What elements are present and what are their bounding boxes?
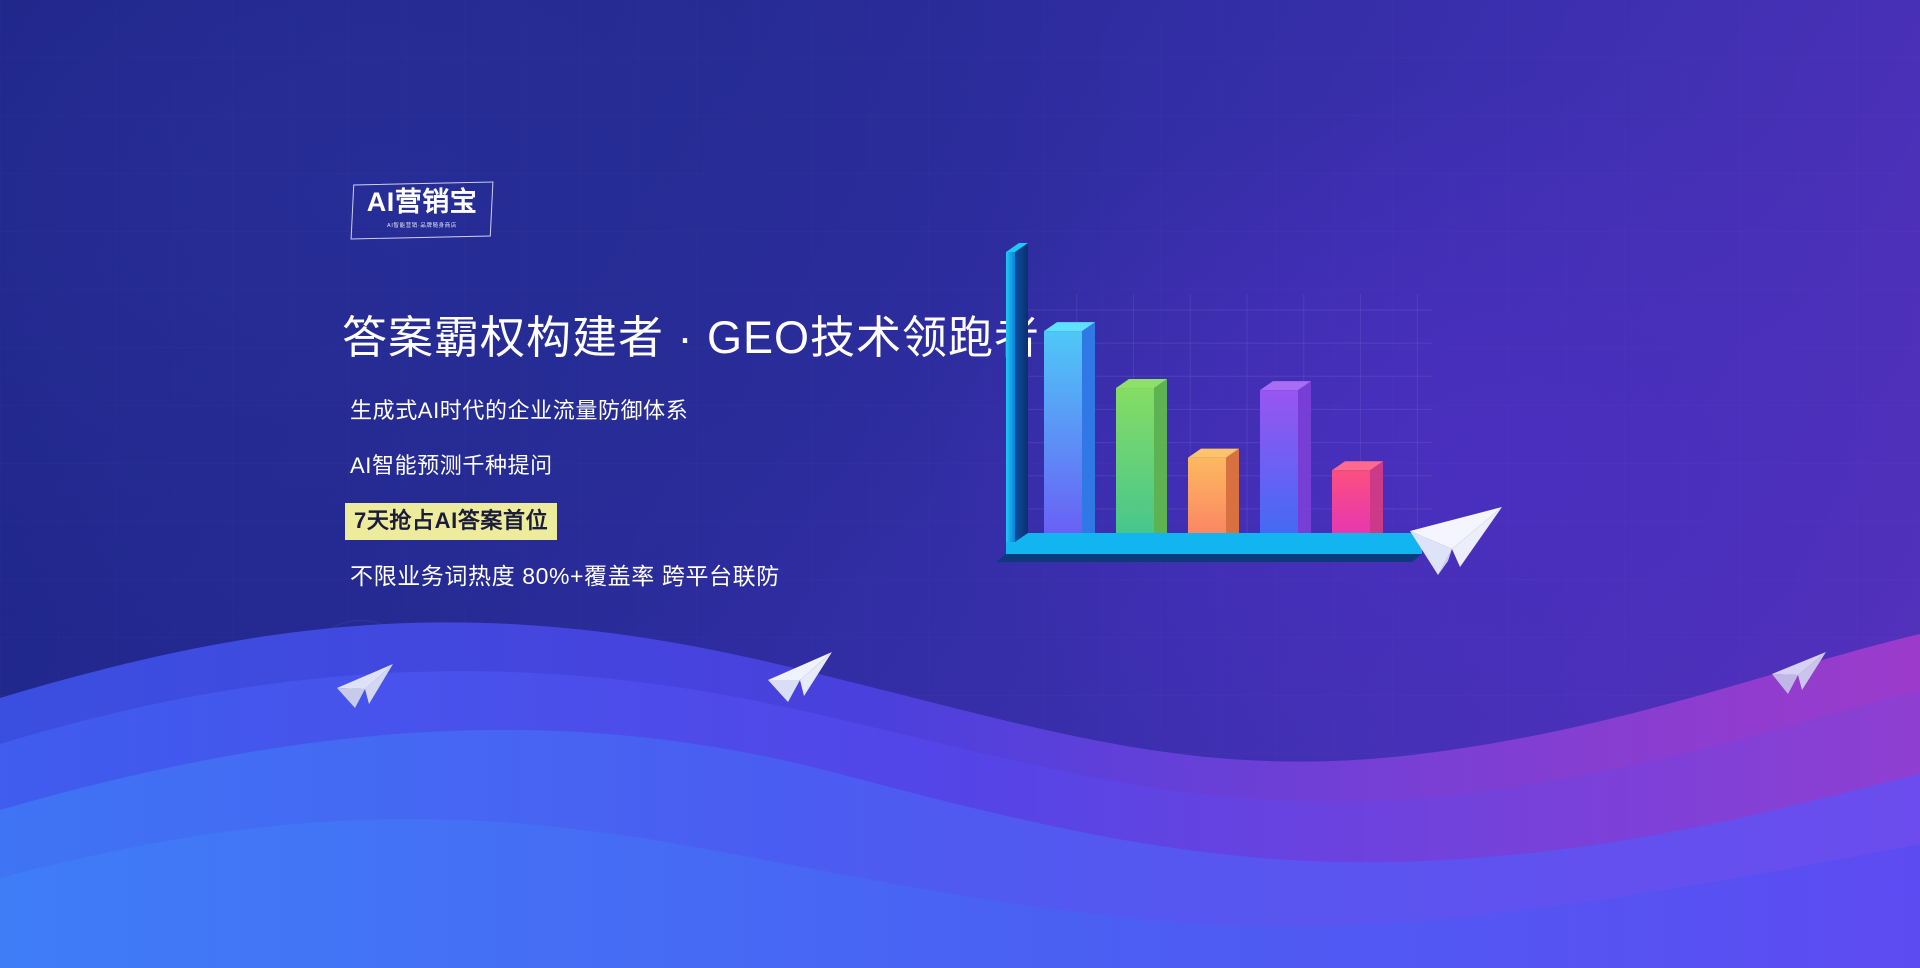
hero-highlight-badge: 7天抢占AI答案首位	[345, 503, 557, 540]
paper-plane-icon	[1408, 505, 1504, 579]
logo-text: AI营销宝	[367, 189, 478, 216]
paper-plane-icon	[335, 662, 397, 712]
paper-plane-icon	[1770, 650, 1830, 698]
page-title: 答案霸权构建者 · GEO技术领跑者	[342, 311, 1040, 365]
hero-subtitle-2: AI智能预测千种提问	[350, 453, 553, 479]
brand-logo[interactable]: AI营销宝 AI智能营销·品牌随身商店	[352, 183, 492, 238]
logo-tagline: AI智能营销·品牌随身商店	[387, 224, 457, 229]
hero-subtitle-4: 不限业务词热度 80%+覆盖率 跨平台联防	[350, 563, 780, 591]
hero-subtitle-1: 生成式AI时代的企业流量防御体系	[350, 398, 688, 424]
chart-bars	[1044, 322, 1383, 542]
hero-banner: AI营销宝 AI智能营销·品牌随身商店 答案霸权构建者 · GEO技术领跑者 生…	[0, 0, 1920, 968]
paper-plane-icon	[766, 650, 836, 706]
bar-chart	[960, 290, 1480, 670]
